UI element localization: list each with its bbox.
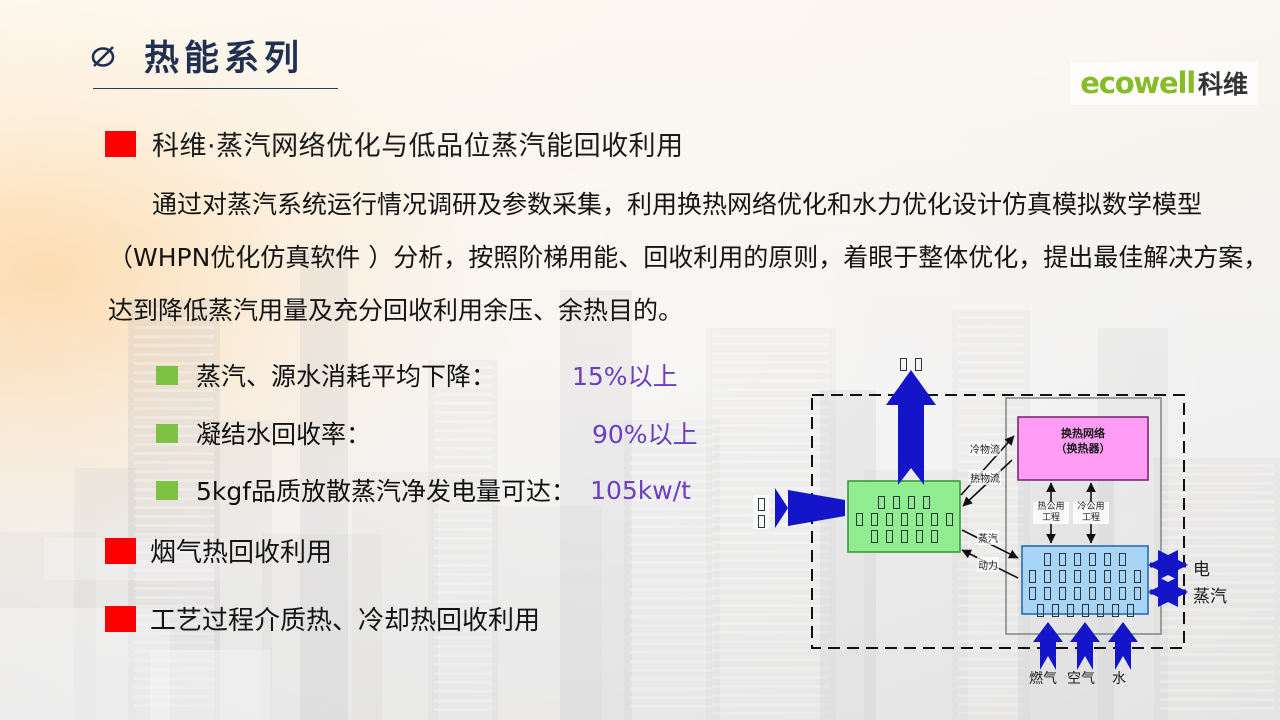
power-stream-label: 动力 <box>977 557 999 572</box>
glyph-row <box>848 493 960 510</box>
paragraph-line-1: 通过对蒸汽系统运行情况调研及参数采集，利用换热网络优化和水力优化设计仿真模拟数学 <box>152 190 1152 219</box>
red-bullet-label: 烟气热回收利用 <box>150 532 332 569</box>
cold-utility-line1: 冷公用 <box>1073 502 1109 513</box>
air-label: 空气 <box>1067 668 1095 688</box>
red-square-marker <box>105 606 136 632</box>
green-square-marker <box>156 481 178 500</box>
slide-title-row: 热能系列 <box>88 30 304 81</box>
water-label: 水 <box>1112 668 1126 688</box>
heading-bullet: 科维·蒸汽网络优化与低品位蒸汽能回收利用 <box>105 124 684 163</box>
hot-utility-line2: 工程 <box>1033 513 1069 524</box>
slashed-circle-icon <box>88 41 118 71</box>
cold-stream-label: 冷物流 <box>969 441 1001 456</box>
hen-box-label: 换热网络 （换热器） <box>1018 426 1148 456</box>
red-bullet-row: 烟气热回收利用 <box>105 532 332 569</box>
stat-row: 凝结水回收率： 90%以上 <box>156 415 698 451</box>
logo-chinese-text: 科维 <box>1198 65 1248 101</box>
energy-system-diagram: 换热网络 （换热器） 冷物流 热物流 蒸汽 动力 <box>750 350 1280 690</box>
glyph-row <box>1022 584 1148 601</box>
glyph-row <box>753 495 769 512</box>
diagram-svg <box>750 350 1280 690</box>
stat-value: 105kw/t <box>590 476 691 505</box>
stat-label: 5kgf品质放散蒸汽净发电量可达： <box>196 472 576 508</box>
hen-label-line2: （换热器） <box>1018 441 1148 456</box>
cold-utility-label: 冷公用 工程 <box>1073 502 1109 524</box>
title-underline <box>93 88 338 89</box>
cold-utility-line2: 工程 <box>1073 513 1109 524</box>
glyph-row <box>848 527 960 544</box>
utility-box-label-glyphs <box>1022 550 1148 618</box>
stat-label: 凝结水回收率： <box>196 415 496 451</box>
stat-value: 15%以上 <box>572 357 678 393</box>
page-title: 热能系列 <box>144 30 304 81</box>
stat-row: 5kgf品质放散蒸汽净发电量可达： 105kw/t <box>156 472 691 508</box>
stat-label: 蒸汽、源水消耗平均下降： <box>196 357 496 393</box>
left-input-label-glyphs <box>753 495 769 529</box>
slide-canvas: 热能系列 ecowell 科维 科维·蒸汽网络优化与低品位蒸汽能回收利用 通过对… <box>0 0 1280 720</box>
fuel-gas-arrow <box>1033 622 1063 670</box>
brand-logo: ecowell 科维 <box>1070 62 1258 105</box>
red-square-marker <box>105 538 136 564</box>
green-square-marker <box>156 424 178 443</box>
heading-bullet-label: 科维·蒸汽网络优化与低品位蒸汽能回收利用 <box>152 124 684 163</box>
glyph-row <box>753 512 769 529</box>
hot-stream-label: 热物流 <box>969 470 1001 485</box>
water-arrow <box>1108 622 1138 670</box>
stat-value: 90%以上 <box>592 415 698 451</box>
glyph-row <box>1022 550 1148 567</box>
steam-stream-label: 蒸汽 <box>977 530 999 545</box>
red-bullet-label: 工艺过程介质热、冷却热回收利用 <box>150 600 540 637</box>
hot-utility-line1: 热公用 <box>1033 502 1069 513</box>
fuel-gas-label: 燃气 <box>1029 668 1057 688</box>
process-box-label-glyphs <box>848 493 960 544</box>
steam-output-label: 蒸汽 <box>1193 582 1227 607</box>
air-arrow <box>1070 622 1100 670</box>
bottom-input-arrows <box>1033 622 1138 670</box>
logo-latin-text: ecowell <box>1080 66 1195 100</box>
glyph-row <box>1022 601 1148 618</box>
top-output-arrow <box>886 370 936 485</box>
body-paragraph: 通过对蒸汽系统运行情况调研及参数采集，利用换热网络优化和水力优化设计仿真模拟数学… <box>108 178 1272 337</box>
stat-row: 蒸汽、源水消耗平均下降： 15%以上 <box>156 357 678 393</box>
glyph-row <box>848 510 960 527</box>
electricity-output-label: 电 <box>1193 555 1210 580</box>
hen-label-line1: 换热网络 <box>1018 426 1148 441</box>
green-square-marker <box>156 366 178 385</box>
red-square-marker <box>105 131 136 157</box>
top-output-label-glyphs <box>881 354 941 373</box>
left-input-arrow <box>775 488 845 528</box>
glyph-row <box>1022 567 1148 584</box>
red-bullet-row: 工艺过程介质热、冷却热回收利用 <box>105 600 540 637</box>
hot-utility-label: 热公用 工程 <box>1033 502 1069 524</box>
